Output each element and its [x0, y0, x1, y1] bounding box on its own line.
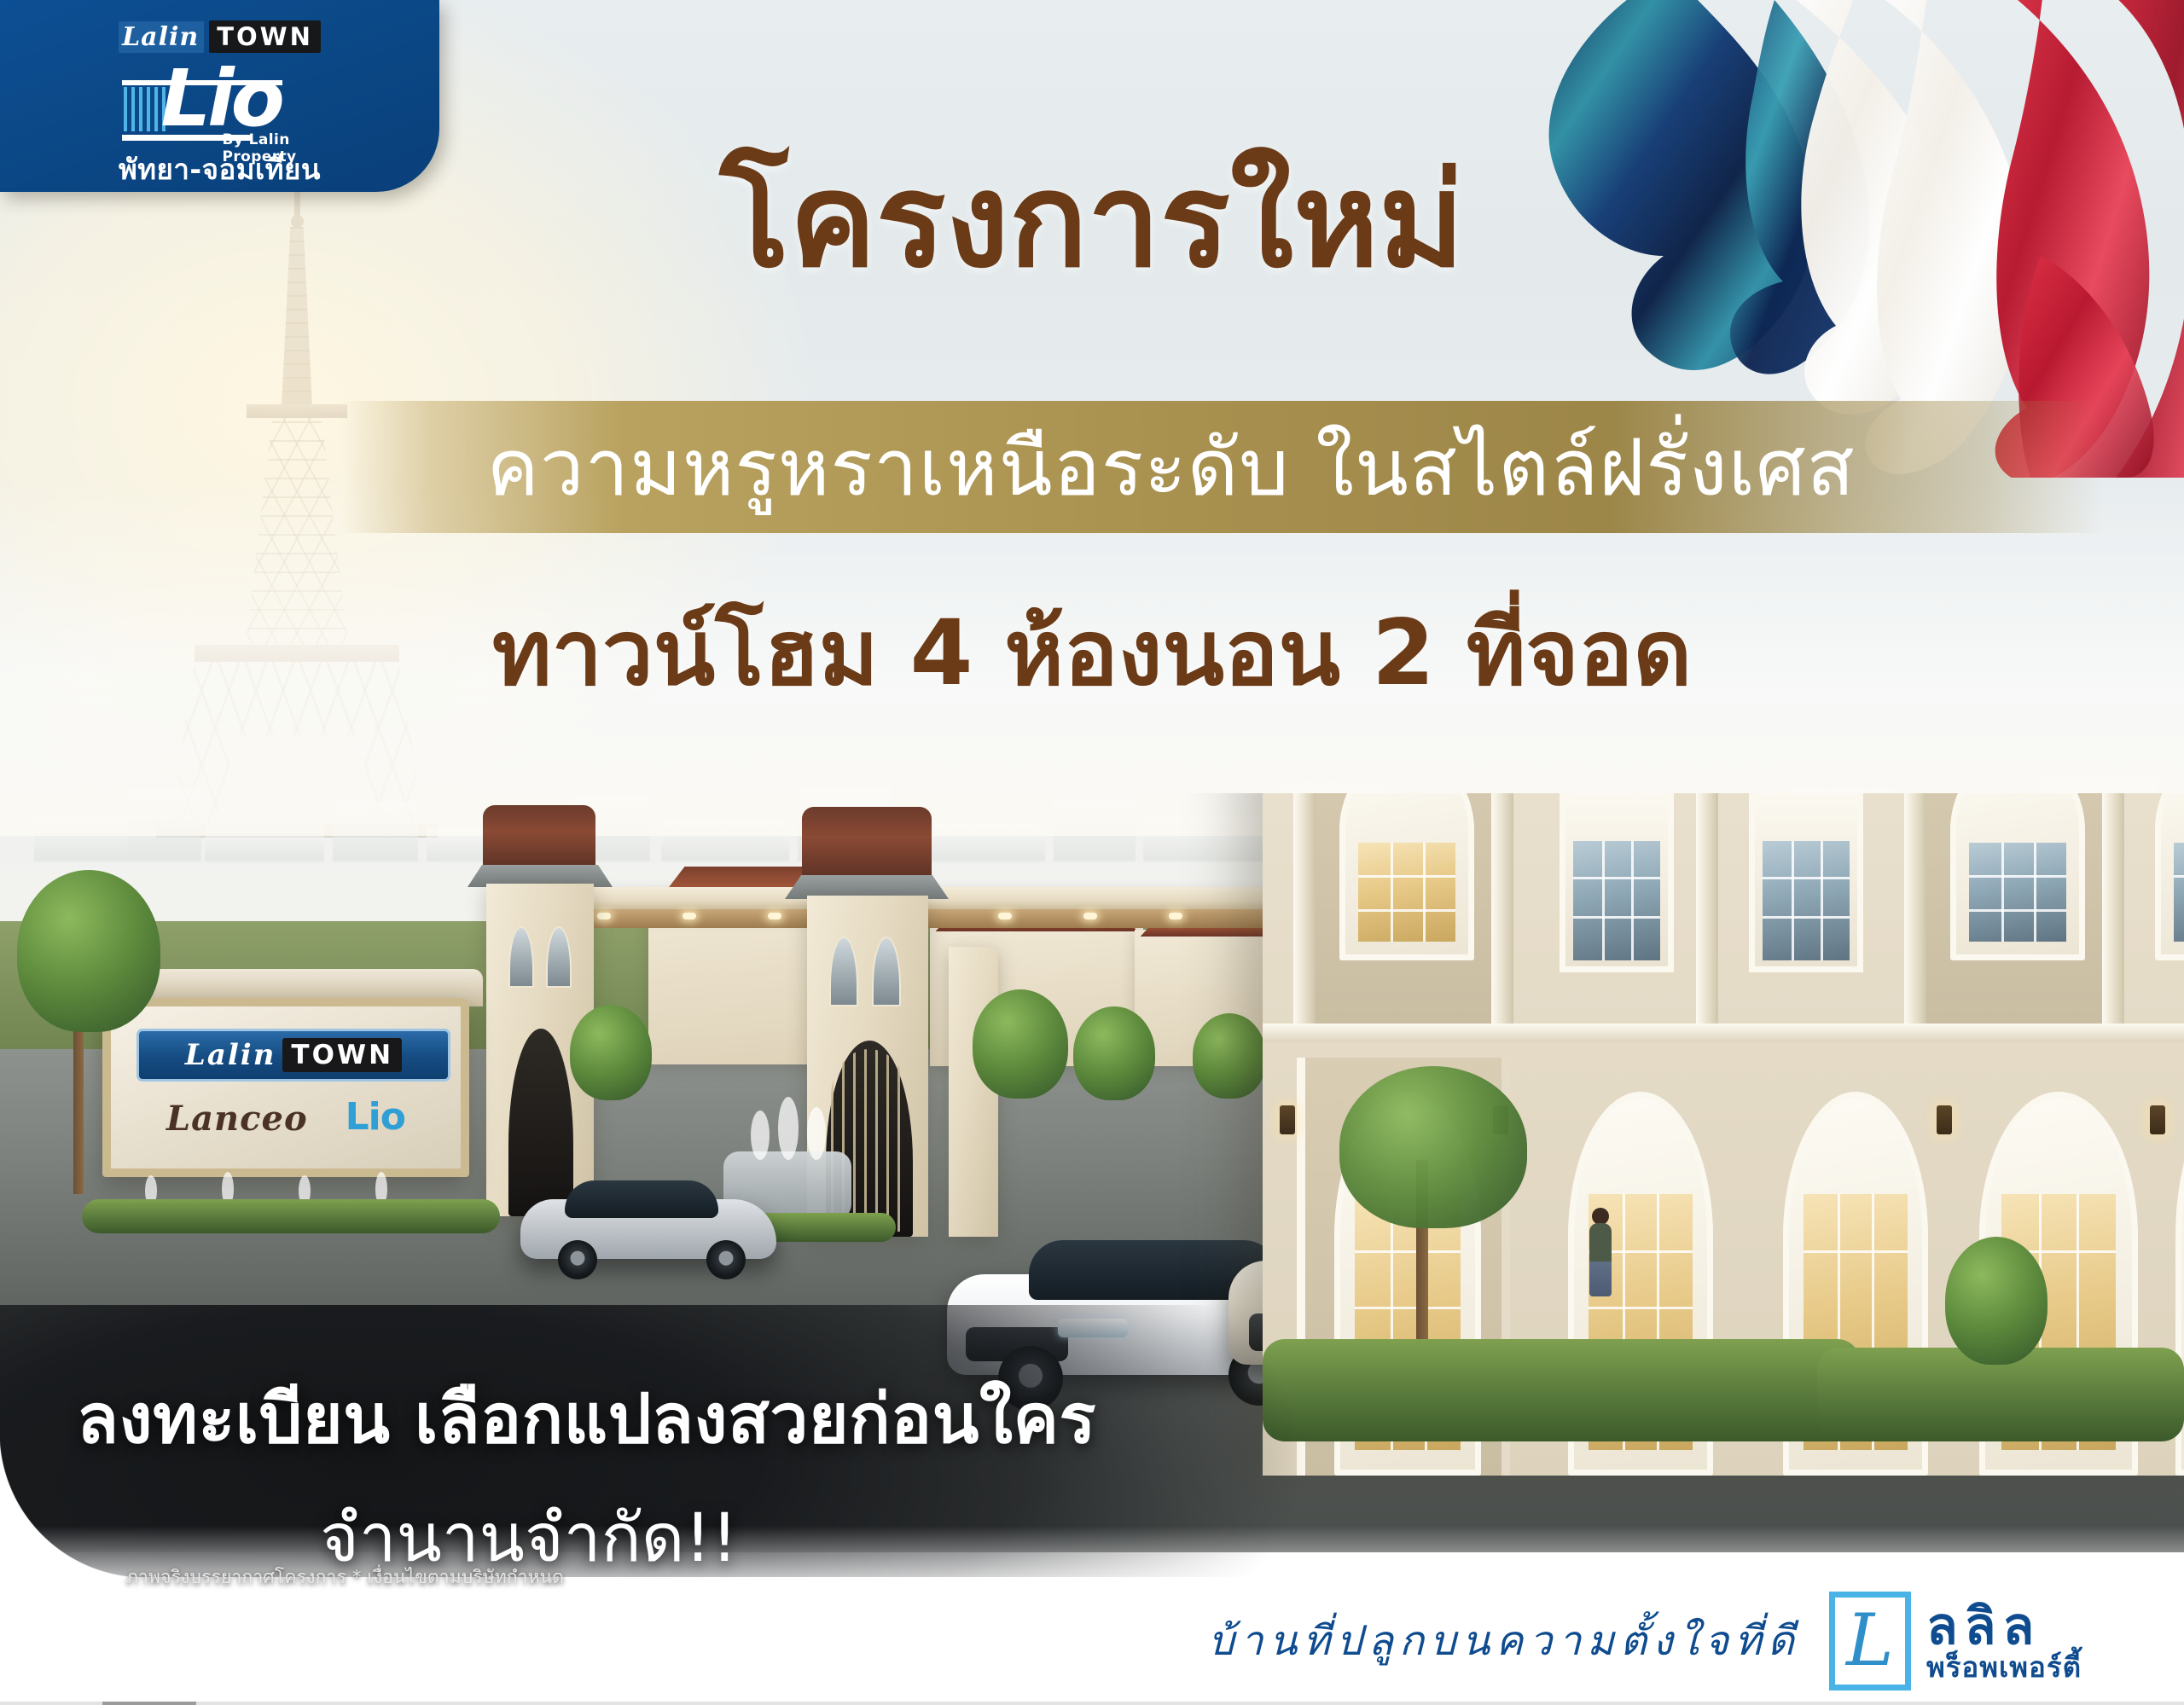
badge-byline: By Lalin Property [223, 131, 318, 165]
project-monument-sign: Lalin TOWN Lanceo Lio [102, 998, 469, 1177]
grey-sedan [520, 1177, 776, 1271]
cta-block: ลงทะเบียน เลือกแปลงสวยก่อนใคร จำนานจำกัด… [77, 1365, 1220, 1591]
logo-letter: L [1835, 1598, 1905, 1685]
resident-figure-head [1592, 1208, 1609, 1225]
advertisement-poster: Lalin TOWN Lanceo Lio [0, 0, 2184, 1705]
cta-line-1: ลงทะเบียน เลือกแปลงสวยก่อนใคร [77, 1365, 1220, 1473]
badge-brand-row: Lalin TOWN [119, 20, 321, 53]
gold-banner: ความหรูหราเหนือระดับ ในสไตล์ฝรั่งเศส [341, 401, 2103, 533]
monument-sub-lanceo: Lanceo [166, 1099, 308, 1139]
monument-sub-lio: Lio [346, 1095, 405, 1139]
gold-banner-text: ความหรูหราเหนือระดับ ในสไตล์ฝรั่งเศส [486, 404, 1957, 530]
monument-brand-town: TOWN [282, 1038, 402, 1072]
company-name-th: ลลิล [1926, 1601, 2082, 1653]
badge-brand-town: TOWN [209, 20, 321, 53]
monument-brand-plate: Lalin TOWN [136, 1029, 450, 1082]
logo-mark: L [1829, 1592, 1911, 1691]
footer-bar: บ้านที่ปลูกบนความตั้งใจที่ดี L ลลิล พร็อ… [0, 1577, 2184, 1705]
product-spec-line: ทาวน์โฮม 4 ห้องนอน 2 ที่จอด [0, 580, 2184, 724]
badge-product-name: Lio [161, 53, 282, 144]
badge-product-logo: Lio By Lalin Property [122, 56, 318, 145]
monument-brand-script: Lalin [185, 1038, 276, 1072]
company-subname-th: พร็อพเพอร์ตี้ [1926, 1653, 2082, 1682]
lalin-property-logo: L ลลิล พร็อพเพอร์ตี้ [1829, 1592, 2082, 1691]
footer-tagline: บ้านที่ปลูกบนความตั้งใจที่ดี [1208, 1609, 1800, 1673]
badge-brand-script: Lalin [119, 21, 204, 53]
brand-badge: Lalin TOWN Lio By Lalin Property พัทยา-จ… [0, 0, 439, 192]
resident-figure [1589, 1223, 1612, 1296]
